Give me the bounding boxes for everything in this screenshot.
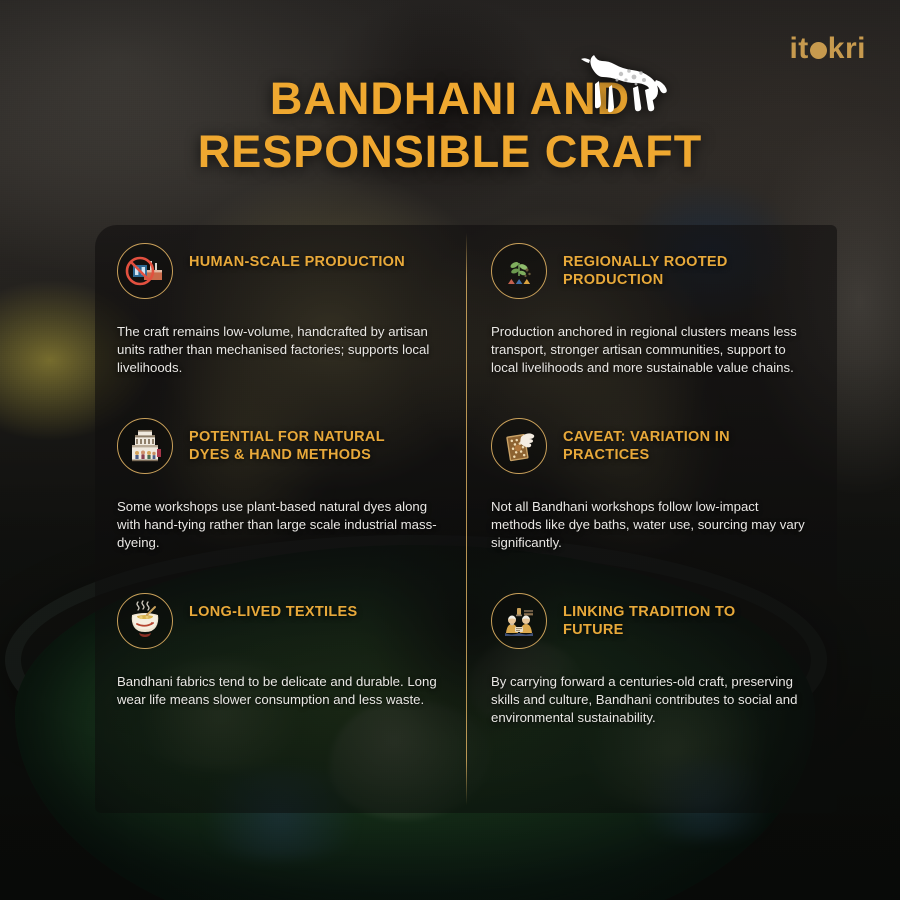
block-caveat-variation-in-practices: CAVEAT: VARIATION IN PRACTICES Not all B…	[471, 400, 837, 575]
content-panel: HUMAN-SCALE PRODUCTION The craft remains…	[95, 225, 837, 813]
block-body: Some workshops use plant-based natural d…	[117, 498, 445, 553]
block-header: HUMAN-SCALE PRODUCTION	[117, 243, 445, 299]
block-header: CAVEAT: VARIATION IN PRACTICES	[491, 418, 811, 474]
block-header: POTENTIAL FOR NATURAL DYES & HAND METHOD…	[117, 418, 445, 474]
block-title: HUMAN-SCALE PRODUCTION	[189, 243, 405, 272]
infographic-canvas: itkri BANDHANI AND RESPONSIBLE CRAFT	[0, 0, 900, 900]
block-regionally-rooted-production: REGIONALLY ROOTED PRODUCTION Production …	[471, 225, 837, 400]
block-title: LINKING TRADITION TO FUTURE	[563, 593, 778, 639]
brand-logo-text-before: it	[789, 32, 808, 65]
block-body: Production anchored in regional clusters…	[491, 323, 811, 378]
block-body: Not all Bandhani workshops follow low-im…	[491, 498, 811, 553]
brand-logo-text-after: kri	[828, 32, 866, 65]
block-potential-for-natural-dyes: POTENTIAL FOR NATURAL DYES & HAND METHOD…	[95, 400, 471, 575]
block-linking-tradition-to-future: LINKING TRADITION TO FUTURE By carrying …	[471, 575, 837, 813]
cow-icon	[572, 52, 668, 114]
block-human-scale-production: HUMAN-SCALE PRODUCTION The craft remains…	[95, 225, 471, 400]
block-title: POTENTIAL FOR NATURAL DYES & HAND METHOD…	[189, 418, 419, 464]
workshop-building-icon	[117, 418, 173, 474]
dye-pot-icon	[117, 593, 173, 649]
block-title: LONG-LIVED TEXTILES	[189, 593, 357, 622]
page-title-line-1: BANDHANI AND	[0, 72, 900, 125]
block-body: By carrying forward a centuries-old craf…	[491, 673, 811, 728]
hand-holding-fabric-icon	[491, 418, 547, 474]
brand-logo-dot-icon	[810, 42, 827, 59]
two-artisans-icon	[491, 593, 547, 649]
page-title-line-2: RESPONSIBLE CRAFT	[0, 125, 900, 178]
page-title: BANDHANI AND RESPONSIBLE CRAFT	[0, 72, 900, 178]
block-title: REGIONALLY ROOTED PRODUCTION	[563, 243, 778, 289]
block-title: CAVEAT: VARIATION IN PRACTICES	[563, 418, 778, 464]
content-grid: HUMAN-SCALE PRODUCTION The craft remains…	[95, 225, 837, 813]
block-body: Bandhani fabrics tend to be delicate and…	[117, 673, 445, 709]
block-long-lived-textiles: LONG-LIVED TEXTILES Bandhani fabrics ten…	[95, 575, 471, 813]
block-header: REGIONALLY ROOTED PRODUCTION	[491, 243, 811, 299]
seedling-cluster-icon	[491, 243, 547, 299]
no-factory-icon	[117, 243, 173, 299]
block-header: LINKING TRADITION TO FUTURE	[491, 593, 811, 649]
block-body: The craft remains low-volume, handcrafte…	[117, 323, 445, 378]
brand-logo[interactable]: itkri	[789, 34, 866, 64]
block-header: LONG-LIVED TEXTILES	[117, 593, 445, 649]
